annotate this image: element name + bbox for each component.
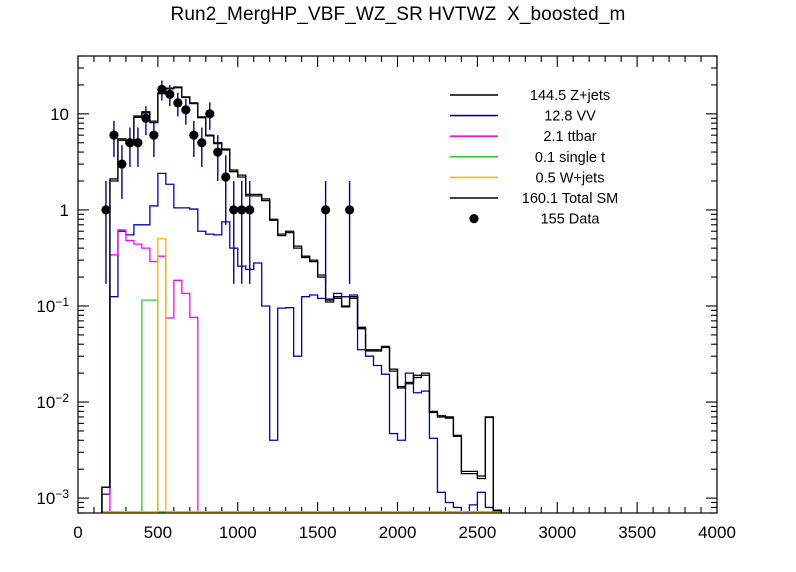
data-point-marker (213, 147, 222, 156)
x-axis-tick-label: 3000 (538, 523, 576, 542)
data-point-marker (117, 159, 126, 168)
x-axis-tick-label: 1500 (299, 523, 337, 542)
legend-entry-label: 2.1 ttbar (543, 129, 596, 145)
y-axis-tick-label: 10−1 (36, 295, 69, 316)
y-axis-tick-label: 10−2 (36, 391, 69, 412)
data-point-marker (173, 98, 182, 107)
x-axis-tick-label: 1000 (219, 523, 257, 542)
data-point-marker (189, 131, 198, 140)
data-point-marker (245, 205, 254, 214)
histogram-12-8-vv (102, 173, 501, 513)
histograms-group (102, 87, 501, 513)
legend-entry-label: 144.5 Z+jets (530, 88, 610, 104)
data-point-marker (133, 138, 142, 147)
data-point-marker (181, 105, 190, 114)
legend-entry-label: 12.8 VV (544, 109, 596, 125)
y-axis-tick-label: 10 (50, 105, 69, 124)
x-axis-tick-label: 500 (144, 523, 172, 542)
histogram-0-5-w-jets (102, 239, 501, 513)
data-point-marker (237, 205, 246, 214)
data-point-marker (125, 138, 134, 147)
data-point-marker (141, 114, 150, 123)
legend-entry-label: 0.1 single t (535, 150, 605, 166)
data-point-marker (157, 85, 166, 94)
legend-group: 144.5 Z+jets12.8 VV2.1 ttbar0.1 single t… (450, 88, 618, 228)
histogram-chart: 0500100015002000250030003500400010−310−2… (0, 0, 796, 572)
x-axis-tick-label: 3500 (618, 523, 656, 542)
legend-entry-label: 160.1 Total SM (522, 191, 618, 207)
data-point-marker (101, 205, 110, 214)
y-axis-tick-label: 10−3 (36, 487, 69, 508)
data-point-marker (109, 131, 118, 140)
data-point-marker (221, 172, 230, 181)
data-point-marker (205, 109, 214, 118)
x-axis-tick-label: 0 (73, 523, 82, 542)
data-point-marker (165, 90, 174, 99)
data-point-marker (197, 138, 206, 147)
x-axis-tick-label: 2500 (458, 523, 496, 542)
x-axis-tick-label: 2000 (379, 523, 417, 542)
legend-entry-label: 155 Data (541, 212, 601, 228)
data-point-marker (321, 205, 330, 214)
histogram-2-1-ttbar (102, 230, 501, 513)
plot-canvas: Run2_MergHP_VBF_WZ_SR HVTWZ X_boosted_m … (0, 0, 796, 572)
legend-entry-label: 0.5 W+jets (536, 170, 605, 186)
y-axis-tick-label: 1 (60, 201, 69, 220)
data-point-marker (229, 205, 238, 214)
data-point-marker (149, 131, 158, 140)
legend-swatch-dot (469, 214, 478, 223)
x-axis-tick-label: 4000 (698, 523, 736, 542)
data-point-marker (345, 205, 354, 214)
data-points-group (101, 81, 354, 284)
